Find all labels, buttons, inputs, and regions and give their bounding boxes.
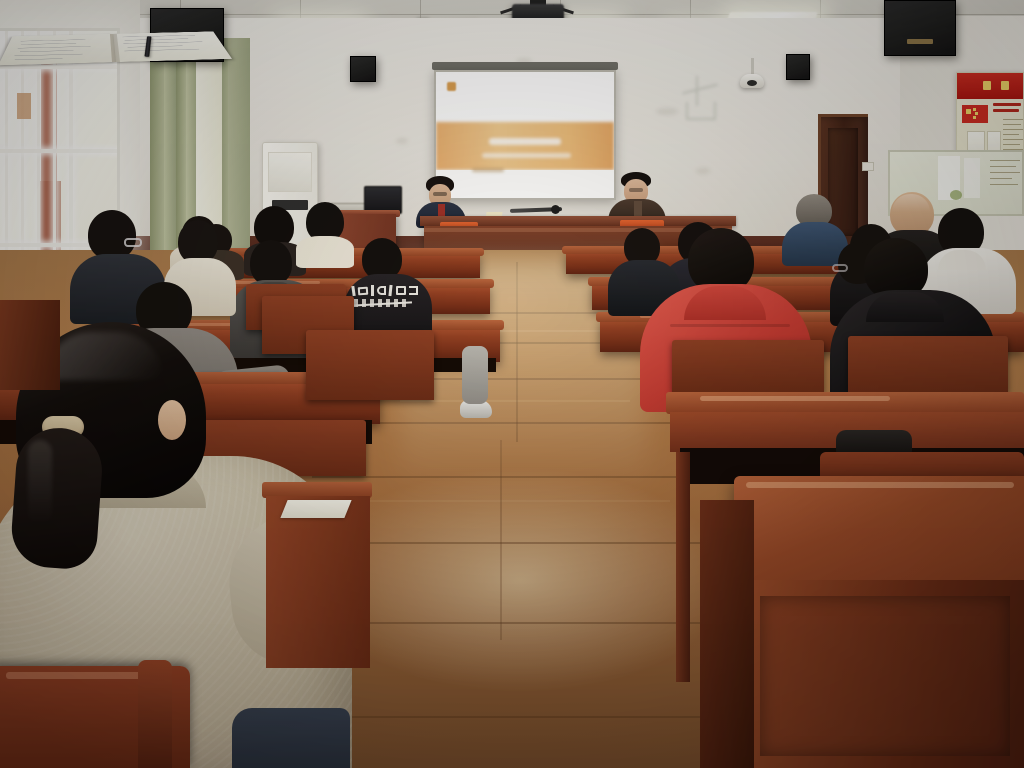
wall-speaker-right — [884, 0, 956, 56]
desk-left-far-edge — [0, 300, 60, 390]
student-leg — [462, 346, 488, 404]
slide-logo — [447, 82, 456, 91]
wall-speaker-center-right — [786, 54, 810, 80]
poster-heading-2 — [993, 109, 1019, 112]
desk-foreground-right-side — [700, 500, 754, 768]
jacket-graphic-smart — [354, 298, 412, 308]
desk-foreground-right-edge — [746, 482, 1014, 488]
wall-doodle — [676, 76, 732, 120]
slide-title-text — [489, 138, 560, 145]
desk-right-near-gloss — [700, 396, 890, 401]
bench-right-2 — [848, 336, 1008, 392]
notebook-left-page — [0, 34, 116, 65]
projection-screen-case — [432, 62, 618, 70]
slide-middle-band — [436, 122, 614, 170]
ac-vent — [268, 152, 312, 192]
camera-lens — [747, 80, 757, 86]
slide-footer-text — [472, 168, 504, 172]
foreground-chair-post — [138, 660, 172, 768]
slide-subtitle-text — [482, 153, 571, 158]
national-flag-icon — [962, 105, 988, 123]
foreground-ear — [158, 400, 186, 440]
wall-speaker-center-left — [350, 56, 376, 82]
ponytail — [9, 425, 105, 571]
foreground-chair-gloss — [6, 672, 156, 679]
foreground-jeans — [232, 708, 350, 768]
paper-left-near — [280, 500, 351, 518]
slide-top-band — [436, 72, 614, 122]
desk-foreground-right-top — [734, 476, 1024, 586]
slide-bottom-band — [436, 170, 614, 198]
power-outlet — [862, 162, 874, 171]
classroom-photo — [0, 0, 1024, 768]
poster-banner — [957, 73, 1023, 99]
jacket-graphic-influence — [352, 284, 420, 296]
desk-leg-right — [676, 452, 690, 682]
desk-left-near — [266, 496, 370, 668]
projection-screen — [434, 70, 616, 200]
door-panel — [828, 128, 858, 236]
notebook-right-page — [113, 31, 232, 62]
bench-right-1 — [672, 340, 824, 392]
microphone-head — [551, 205, 560, 214]
window-curtain-right — [228, 38, 250, 248]
poster-heading — [993, 103, 1021, 106]
desk-foreground-right-panel — [760, 596, 1010, 756]
